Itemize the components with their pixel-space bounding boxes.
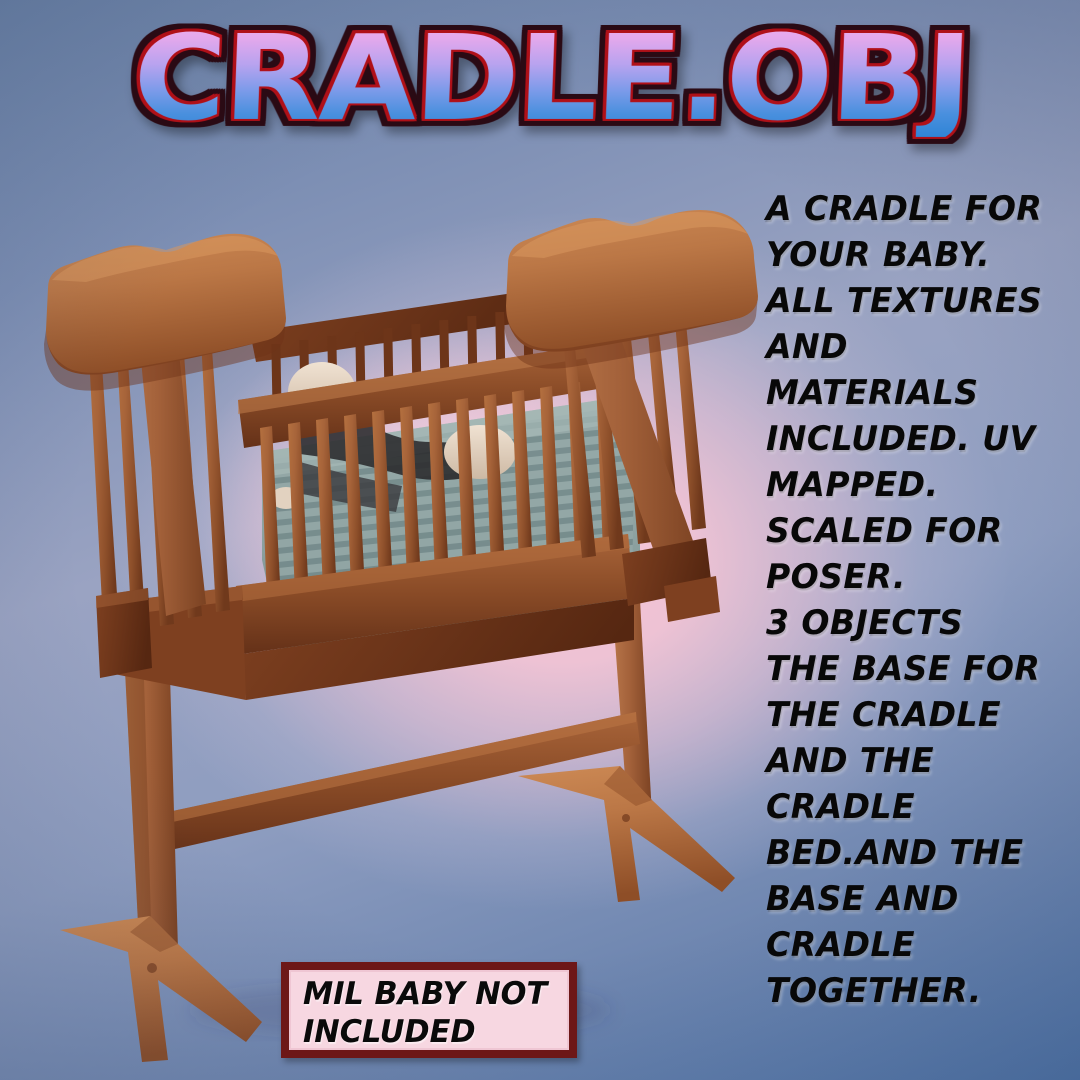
description-line: CRADLE	[766, 922, 1067, 968]
disclaimer-line: MIL BABY NOT	[303, 975, 552, 1013]
description-line: AND	[766, 324, 1067, 370]
description-line: CRADLE	[766, 784, 1067, 830]
description-line: INCLUDED. UV	[766, 416, 1067, 462]
description-line: MAPPED.	[766, 462, 1067, 508]
description-line: 3 OBJECTS	[766, 600, 1067, 646]
description-line: SCALED FOR	[766, 508, 1067, 554]
description-line: TOGETHER.	[766, 968, 1067, 1014]
description-line: THE BASE FOR	[766, 646, 1067, 692]
disclaimer-badge: MIL BABY NOT INCLUDED	[281, 962, 577, 1058]
description-line: YOUR BABY.	[766, 232, 1067, 278]
description-line: MATERIALS	[766, 370, 1067, 416]
description-line: BED.AND THE	[766, 830, 1067, 876]
disclaimer-line: INCLUDED	[303, 1013, 552, 1051]
description-line: BASE AND	[766, 876, 1067, 922]
description-block: A CRADLE FOR YOUR BABY. ALL TEXTURES AND…	[766, 186, 1076, 1014]
promo-canvas: CRADLE.OBJ A CRADLE FOR YOUR BABY. ALL T…	[0, 0, 1080, 1080]
description-line: A CRADLE FOR	[766, 186, 1067, 232]
description-line: POSER.	[766, 554, 1067, 600]
description-line: ALL TEXTURES	[766, 278, 1067, 324]
description-line: THE CRADLE	[766, 692, 1067, 738]
disclaimer-badge-inner: MIL BABY NOT INCLUDED	[289, 970, 569, 1050]
description-line: AND THE	[766, 738, 1067, 784]
